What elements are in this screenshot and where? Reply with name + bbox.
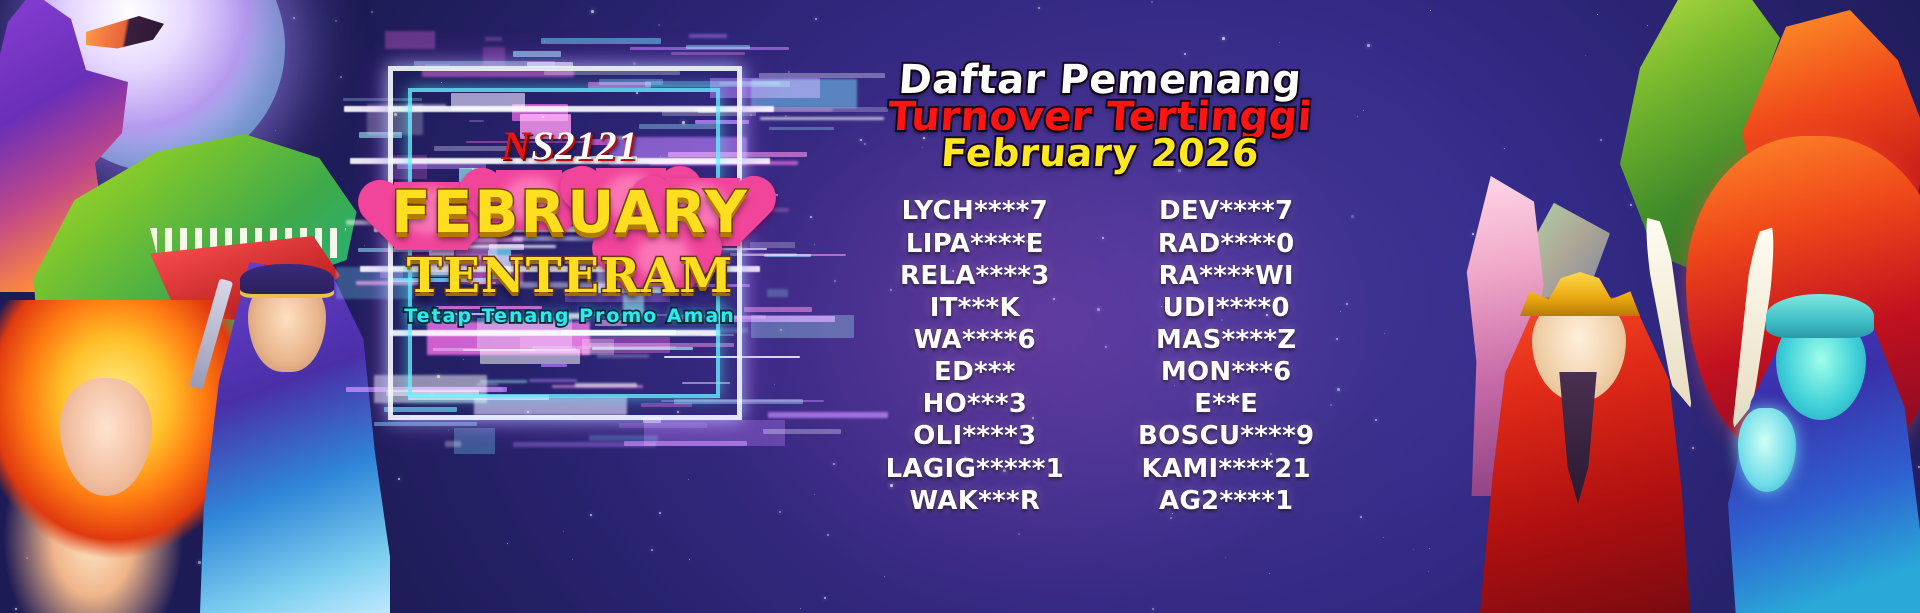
- month-title: FEBRUARY: [360, 178, 780, 246]
- brand-logo: NS2121: [360, 122, 780, 169]
- winners-panel: Daftar Pemenang Turnover Tertinggi Febru…: [790, 60, 1410, 580]
- winners-heading-line3: February 2026: [789, 134, 1412, 173]
- genie-turban: [1766, 294, 1874, 338]
- warrior-hat: [240, 264, 334, 298]
- brand-name-rest: S2121: [531, 123, 638, 168]
- winner-name: LAGIG*****1: [886, 454, 1064, 484]
- center-title-block: NS2121 FEBRUARY TENTERAM Tetap Tenang Pr…: [360, 0, 780, 613]
- winners-heading-group: Daftar Pemenang Turnover Tertinggi Febru…: [790, 60, 1410, 172]
- winner-name: LYCH****7: [886, 196, 1064, 226]
- winner-name: AG2****1: [1138, 486, 1314, 516]
- winner-name: LIPA****E: [886, 229, 1064, 259]
- winner-name: HO***3: [886, 389, 1064, 419]
- winner-name: RAD****0: [1138, 229, 1314, 259]
- right-character-artwork: [1440, 0, 1920, 613]
- winner-name: ED***: [886, 357, 1064, 387]
- theme-title: TENTERAM: [360, 248, 780, 304]
- winners-column-left: LYCH****7 LIPA****E RELA****3 IT***K WA*…: [886, 196, 1064, 516]
- winner-name: BOSCU****9: [1138, 421, 1314, 451]
- winners-columns: LYCH****7 LIPA****E RELA****3 IT***K WA*…: [790, 196, 1410, 516]
- winner-name: WA****6: [886, 325, 1064, 355]
- winner-name: IT***K: [886, 293, 1064, 323]
- winner-name: KAMI****21: [1138, 454, 1314, 484]
- winner-name: RELA****3: [886, 261, 1064, 291]
- promo-banner: NS2121 FEBRUARY TENTERAM Tetap Tenang Pr…: [0, 0, 1920, 613]
- winners-column-right: DEV****7 RAD****0 RA****WI UDI****0 MAS*…: [1138, 196, 1314, 516]
- winner-name: RA****WI: [1138, 261, 1314, 291]
- winner-name: UDI****0: [1138, 293, 1314, 323]
- winner-name: OLI****3: [886, 421, 1064, 451]
- winner-name: WAK***R: [886, 486, 1064, 516]
- promo-tagline: Tetap Tenang Promo Aman: [360, 305, 780, 327]
- winner-name: DEV****7: [1138, 196, 1314, 226]
- brand-accent-letter: N: [501, 123, 531, 168]
- winner-name: MAS****Z: [1138, 325, 1314, 355]
- winner-name: E**E: [1138, 389, 1314, 419]
- winner-name: MON***6: [1138, 357, 1314, 387]
